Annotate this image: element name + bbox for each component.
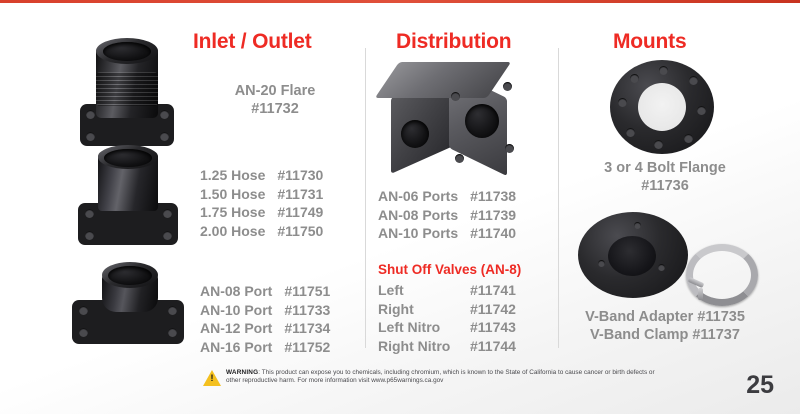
hose-part-3: #11750 bbox=[265, 223, 323, 242]
hose-label-3: 2.00 Hose bbox=[200, 223, 265, 242]
product-image-an20-flare bbox=[58, 42, 198, 152]
port-label-1: AN-10 Port bbox=[200, 302, 272, 321]
distribution-spec-table: AN-06 Ports #11738 AN-08 Ports #11739 AN… bbox=[378, 188, 516, 244]
port-label-0: AN-08 Port bbox=[200, 283, 272, 302]
hose-label-2: 1.75 Hose bbox=[200, 204, 265, 223]
product-image-distribution-block bbox=[385, 62, 515, 177]
caption-vband-adapter: V-Band Adapter #11735 bbox=[560, 309, 770, 326]
table-row: AN-16 Port #11752 bbox=[200, 339, 330, 358]
table-row: AN-06 Ports #11738 bbox=[378, 188, 516, 207]
column-divider-1 bbox=[365, 48, 366, 348]
dist-part-0: #11738 bbox=[458, 188, 516, 207]
hose-spec-table: 1.25 Hose #11730 1.50 Hose #11731 1.75 H… bbox=[200, 167, 323, 241]
table-row: 1.50 Hose #11731 bbox=[200, 186, 323, 205]
caption-bolt-flange-name: 3 or 4 Bolt Flange bbox=[565, 160, 765, 177]
catalog-page: Inlet / Outlet AN-20 Flare #11732 1.25 H… bbox=[0, 0, 800, 414]
port-part-3: #11752 bbox=[272, 339, 330, 358]
port-label-2: AN-12 Port bbox=[200, 320, 272, 339]
caption-an20-flare-name: AN-20 Flare bbox=[200, 83, 350, 100]
hose-part-2: #11749 bbox=[265, 204, 323, 223]
column-divider-2 bbox=[558, 48, 559, 348]
heading-shut-off-valves: Shut Off Valves (AN-8) bbox=[378, 262, 521, 277]
heading-inlet-outlet: Inlet / Outlet bbox=[193, 30, 312, 54]
shutoff-part-2: #11743 bbox=[470, 319, 516, 338]
hose-part-0: #11730 bbox=[265, 167, 323, 186]
hose-label-0: 1.25 Hose bbox=[200, 167, 265, 186]
table-row: AN-10 Ports #11740 bbox=[378, 225, 516, 244]
table-row: Right #11742 bbox=[378, 301, 516, 320]
heading-mounts: Mounts bbox=[613, 30, 686, 54]
caption-vband-clamp: V-Band Clamp #11737 bbox=[560, 327, 770, 344]
hose-part-1: #11731 bbox=[265, 186, 323, 205]
dist-label-0: AN-06 Ports bbox=[378, 188, 458, 207]
shutoff-label-1: Right bbox=[378, 301, 470, 320]
table-row: Right Nitro #11744 bbox=[378, 338, 516, 357]
port-spec-table: AN-08 Port #11751 AN-10 Port #11733 AN-1… bbox=[200, 283, 330, 357]
caption-an20-flare-part: #11732 bbox=[200, 101, 350, 118]
page-number: 25 bbox=[746, 371, 774, 400]
table-row: Left #11741 bbox=[378, 282, 516, 301]
warning-triangle-icon bbox=[203, 370, 221, 386]
port-part-0: #11751 bbox=[272, 283, 330, 302]
shutoff-label-3: Right Nitro bbox=[378, 338, 470, 357]
table-row: AN-12 Port #11734 bbox=[200, 320, 330, 339]
table-row: Left Nitro #11743 bbox=[378, 319, 516, 338]
prop65-warning: WARNING: This product can expose you to … bbox=[203, 369, 658, 386]
table-row: AN-08 Port #11751 bbox=[200, 283, 330, 302]
product-image-threaded-port bbox=[58, 258, 203, 358]
table-row: 1.25 Hose #11730 bbox=[200, 167, 323, 186]
dist-part-2: #11740 bbox=[458, 225, 516, 244]
top-accent-rule bbox=[0, 0, 800, 3]
caption-bolt-flange-part: #11736 bbox=[565, 178, 765, 195]
shutoff-label-0: Left bbox=[378, 282, 470, 301]
warning-body: : This product can expose you to chemica… bbox=[226, 369, 655, 384]
warning-label: WARNING bbox=[226, 369, 258, 376]
port-part-1: #11733 bbox=[272, 302, 330, 321]
dist-label-1: AN-08 Ports bbox=[378, 207, 458, 226]
table-row: 2.00 Hose #11750 bbox=[200, 223, 323, 242]
dist-part-1: #11739 bbox=[458, 207, 516, 226]
shutoff-spec-table: Left #11741 Right #11742 Left Nitro #117… bbox=[378, 282, 516, 356]
shutoff-part-0: #11741 bbox=[470, 282, 516, 301]
dist-label-2: AN-10 Ports bbox=[378, 225, 458, 244]
table-row: AN-10 Port #11733 bbox=[200, 302, 330, 321]
heading-distribution: Distribution bbox=[396, 30, 511, 54]
table-row: AN-08 Ports #11739 bbox=[378, 207, 516, 226]
shutoff-label-2: Left Nitro bbox=[378, 319, 470, 338]
warning-text: WARNING: This product can expose you to … bbox=[226, 369, 658, 386]
table-row: 1.75 Hose #11749 bbox=[200, 204, 323, 223]
product-image-vband-adapter-and-clamp bbox=[576, 208, 766, 308]
hose-label-1: 1.50 Hose bbox=[200, 186, 265, 205]
shutoff-part-1: #11742 bbox=[470, 301, 516, 320]
port-label-3: AN-16 Port bbox=[200, 339, 272, 358]
product-image-hose-adapter bbox=[58, 145, 198, 250]
shutoff-part-3: #11744 bbox=[470, 338, 516, 357]
product-image-bolt-flange bbox=[604, 58, 734, 158]
port-part-2: #11734 bbox=[272, 320, 330, 339]
